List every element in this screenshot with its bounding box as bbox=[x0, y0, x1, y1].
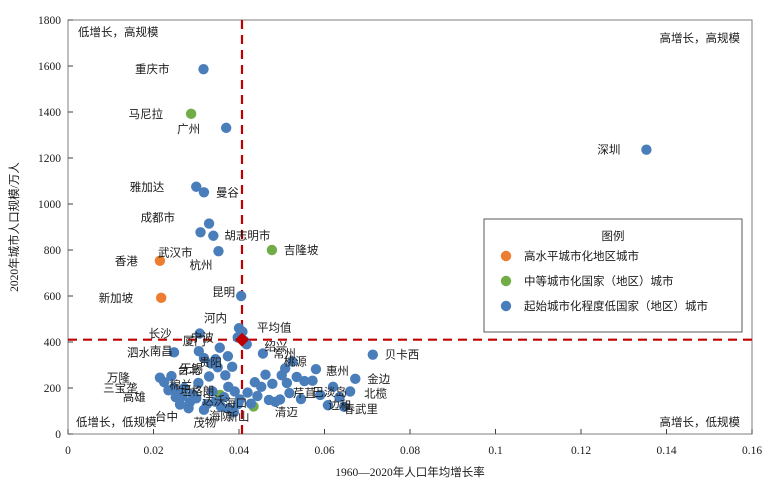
point-label-成都市: 成都市 bbox=[141, 211, 176, 225]
data-point-贵阳[interactable] bbox=[223, 351, 233, 361]
data-point[interactable] bbox=[183, 403, 193, 413]
point-label-广州: 广州 bbox=[177, 123, 200, 136]
y-axis-tick-label: 1600 bbox=[38, 61, 61, 73]
x-axis-tick-label: 0.12 bbox=[571, 445, 591, 457]
point-label-坦格朗: 坦格朗 bbox=[180, 384, 215, 398]
data-point-杭州[interactable] bbox=[213, 246, 223, 256]
quadrant-note-bottom-right: 高增长，低规模 bbox=[660, 415, 741, 429]
data-point-芹苴[interactable] bbox=[282, 378, 292, 388]
point-label-长沙: 长沙 bbox=[149, 327, 172, 340]
data-point-无锡[interactable] bbox=[204, 371, 214, 381]
x-axis-tick-label: 0.16 bbox=[742, 445, 762, 457]
chart-canvas: 02004006008001000120014001600180000.020.… bbox=[0, 0, 765, 479]
point-label-昆明: 昆明 bbox=[212, 286, 235, 299]
data-point-广州[interactable] bbox=[221, 123, 231, 133]
y-axis-tick-label: 800 bbox=[44, 245, 62, 257]
point-label-绍兴: 绍兴 bbox=[264, 340, 287, 354]
point-label-金边: 金边 bbox=[367, 372, 390, 386]
x-axis-title: 1960—2020年人口年均增长率 bbox=[335, 465, 485, 479]
quadrant-note-bottom-left: 低增长，低规模 bbox=[76, 415, 157, 429]
x-axis-tick-label: 0.14 bbox=[656, 445, 676, 457]
legend-swatch-2[interactable] bbox=[501, 301, 511, 311]
data-point[interactable] bbox=[292, 372, 302, 382]
point-label-无锡: 无锡 bbox=[180, 362, 203, 376]
data-point-胡志明市[interactable] bbox=[208, 231, 218, 241]
data-point[interactable] bbox=[242, 387, 252, 397]
point-label-茂物: 茂物 bbox=[193, 416, 216, 430]
x-axis-tick-label: 0.02 bbox=[143, 445, 163, 457]
point-label-香港: 香港 bbox=[115, 255, 138, 268]
data-point[interactable] bbox=[227, 362, 237, 372]
legend-title: 图例 bbox=[602, 229, 625, 243]
data-point-厦门[interactable] bbox=[215, 343, 225, 353]
legend: 图例高水平城市化地区城市中等城市化国家（地区）城市起始城市化程度低国家（地区）城… bbox=[484, 219, 742, 332]
x-axis-tick-label: 0 bbox=[65, 445, 71, 457]
point-label-清迈: 清迈 bbox=[275, 406, 298, 419]
data-point[interactable] bbox=[267, 379, 277, 389]
x-axis-tick-label: 0.08 bbox=[400, 445, 420, 457]
point-label-厦门: 厦门 bbox=[183, 334, 206, 348]
y-axis-tick-label: 600 bbox=[44, 291, 62, 303]
x-axis-tick-label: 0.04 bbox=[229, 445, 249, 457]
y-axis-tick-label: 1200 bbox=[38, 153, 61, 165]
data-point-马尼拉[interactable] bbox=[186, 109, 196, 119]
point-label-重庆市: 重庆市 bbox=[135, 62, 170, 76]
point-label-吉隆坡: 吉隆坡 bbox=[284, 243, 319, 257]
point-label-马尼拉: 马尼拉 bbox=[129, 107, 164, 121]
point-label-惠州: 惠州 bbox=[326, 364, 349, 378]
point-label-曼谷: 曼谷 bbox=[216, 186, 239, 199]
scatter-chart: 02004006008001000120014001600180000.020.… bbox=[0, 0, 765, 479]
data-point[interactable] bbox=[307, 375, 317, 385]
legend-swatch-1[interactable] bbox=[501, 276, 511, 286]
point-label-南昌: 南昌 bbox=[150, 344, 173, 358]
data-point-成都市[interactable] bbox=[204, 218, 214, 228]
y-axis-title: 2020年城市人口规模/万人 bbox=[7, 162, 21, 292]
point-label-雅加达: 雅加达 bbox=[130, 180, 165, 194]
point-label-台中: 台中 bbox=[155, 410, 178, 424]
data-point-武汉市[interactable] bbox=[195, 227, 205, 237]
point-label-泗水: 泗水 bbox=[127, 346, 150, 359]
data-point-重庆市[interactable] bbox=[198, 64, 208, 74]
legend-label-0: 高水平城市化地区城市 bbox=[524, 249, 639, 263]
point-label-胡志明市: 胡志明市 bbox=[224, 229, 270, 243]
legend-swatch-0[interactable] bbox=[501, 251, 511, 261]
data-point-惠州[interactable] bbox=[311, 364, 321, 374]
data-point-昆明[interactable] bbox=[236, 291, 246, 301]
point-label-桃源: 桃源 bbox=[284, 354, 307, 368]
legend-label-1: 中等城市化国家（地区）城市 bbox=[524, 274, 674, 288]
y-axis-tick-label: 1000 bbox=[38, 199, 61, 211]
point-label-杭州: 杭州 bbox=[189, 258, 212, 272]
data-point-金边[interactable] bbox=[350, 374, 360, 384]
point-label-深圳: 深圳 bbox=[597, 143, 620, 157]
data-point[interactable] bbox=[252, 391, 262, 401]
quadrant-note-top-right: 高增长，高规模 bbox=[660, 31, 741, 45]
point-label-巴淡岛: 巴淡岛 bbox=[312, 385, 347, 399]
data-point[interactable] bbox=[260, 369, 270, 379]
point-label-河内: 河内 bbox=[204, 311, 227, 325]
point-label-高雄: 高雄 bbox=[123, 390, 146, 404]
y-axis-tick-label: 1400 bbox=[38, 107, 61, 119]
point-label-贝卡西: 贝卡西 bbox=[385, 349, 420, 362]
data-point-深圳[interactable] bbox=[641, 145, 651, 155]
legend-label-2: 起始城市化程度低国家（地区）城市 bbox=[524, 299, 708, 313]
data-point[interactable] bbox=[275, 394, 285, 404]
y-axis-tick-label: 1800 bbox=[38, 15, 61, 27]
data-point[interactable] bbox=[220, 370, 230, 380]
quadrant-note-top-left: 低增长，高规模 bbox=[78, 25, 159, 39]
point-label-新加坡: 新加坡 bbox=[99, 291, 134, 305]
y-axis-tick-label: 0 bbox=[55, 429, 61, 441]
mean-value-label: 平均值 bbox=[257, 322, 292, 335]
y-axis-tick-label: 200 bbox=[44, 383, 62, 395]
point-label-春武里: 春武里 bbox=[343, 403, 378, 416]
point-label-武汉市: 武汉市 bbox=[158, 245, 193, 259]
x-axis-tick-label: 0.06 bbox=[314, 445, 334, 457]
data-point-新加坡[interactable] bbox=[156, 293, 166, 303]
point-label-海口: 海口 bbox=[224, 396, 247, 410]
point-label-北榄: 北榄 bbox=[364, 387, 387, 400]
y-axis-tick-label: 400 bbox=[44, 337, 62, 349]
data-point-贝卡西[interactable] bbox=[368, 349, 378, 359]
x-axis-tick-label: 0.1 bbox=[488, 445, 503, 457]
data-point-吉隆坡[interactable] bbox=[267, 245, 277, 255]
data-point-曼谷[interactable] bbox=[199, 187, 209, 197]
data-point[interactable] bbox=[256, 382, 266, 392]
